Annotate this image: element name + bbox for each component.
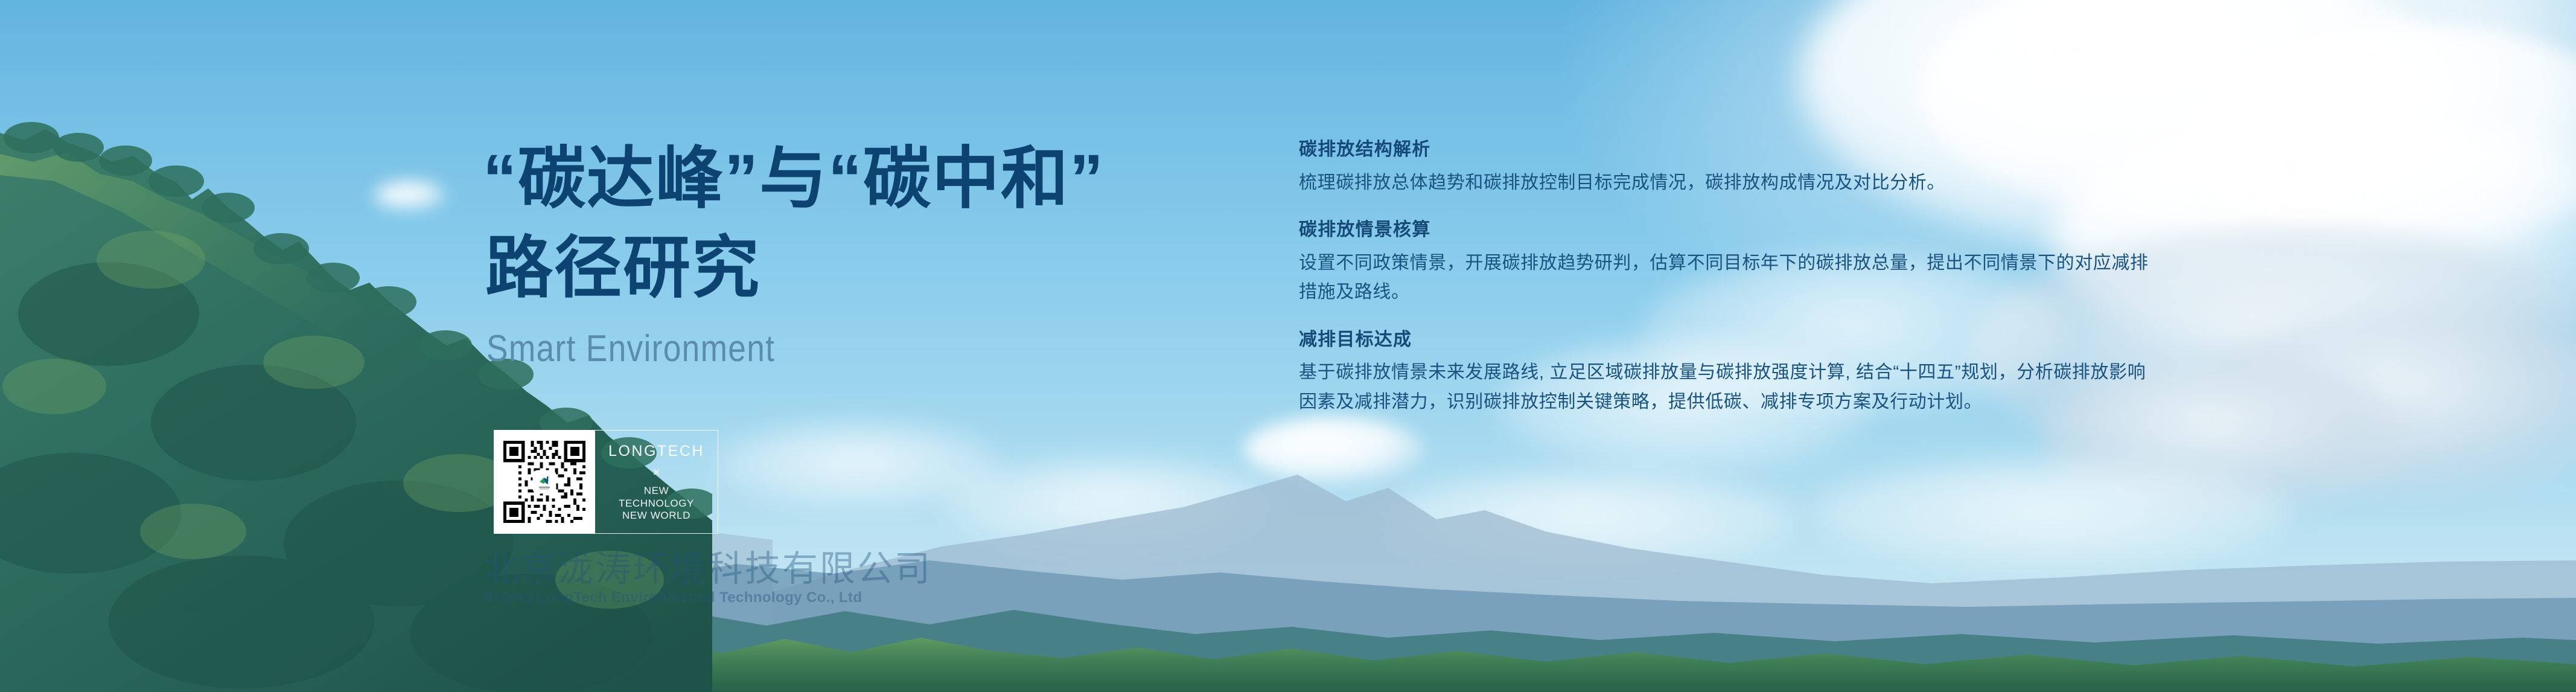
info-section-3: 减排目标达成 基于碳排放情景未来发展路线, 立足区域碳排放量与碳排放强度计算, … [1299,328,2156,417]
info-column: 碳排放结构解析 梳理碳排放总体趋势和碳排放控制目标完成情况，碳排放构成情况及对比… [1299,138,2156,417]
brand-card[interactable]: LONGTECH × NEW TECHNOLOGY NEW WORLD [494,430,718,534]
company-logo-icon [534,471,555,493]
company-name-cn: 北京泷涛环境科技有限公司 [483,551,942,588]
info-body-3: 基于碳排放情景未来发展路线, 立足区域碳排放量与碳排放强度计算, 结合“十四五”… [1299,358,2156,417]
title-line-1: “碳达峰”与“碳中和” [483,134,1207,223]
company-watermark: 北京泷涛环境科技有限公司 Beijing LongTech Environmen… [483,551,942,606]
hero-banner: “碳达峰”与“碳中和” 路径研究 Smart Environment [0,0,2576,692]
tagline-line-2: TECHNOLOGY [619,498,694,510]
info-body-2: 设置不同政策情景，开展碳排放趋势研判，估算不同目标年下的碳排放总量，提出不同情景… [1299,249,2156,307]
info-section-1: 碳排放结构解析 梳理碳排放总体趋势和碳排放控制目标完成情况，碳排放构成情况及对比… [1299,138,2156,197]
info-heading-1: 碳排放结构解析 [1299,138,2156,162]
title-subtitle: Smart Environment [486,327,1106,370]
info-heading-3: 减排目标达成 [1299,328,2156,353]
longtech-x-separator: × [652,466,660,479]
info-section-2: 碳排放情景核算 设置不同政策情景，开展碳排放趋势研判，估算不同目标年下的碳排放总… [1299,218,2156,307]
tagline-line-1: NEW [619,485,694,498]
info-heading-2: 碳排放情景核算 [1299,218,2156,243]
tagline-line-3: NEW WORLD [619,510,694,522]
longtech-name: LONGTECH [608,444,704,459]
company-name-en: Beijing LongTech Environmental Technolog… [483,589,942,606]
qr-code-panel[interactable] [494,430,595,534]
title-block: “碳达峰”与“碳中和” 路径研究 Smart Environment [483,134,1207,370]
longtech-tagline: NEW TECHNOLOGY NEW WORLD [619,485,694,522]
longtech-panel: LONGTECH × NEW TECHNOLOGY NEW WORLD [595,430,718,534]
title-line-2: 路径研究 [485,223,1207,313]
info-body-1: 梳理碳排放总体趋势和碳排放控制目标完成情况，碳排放构成情况及对比分析。 [1299,168,2156,198]
